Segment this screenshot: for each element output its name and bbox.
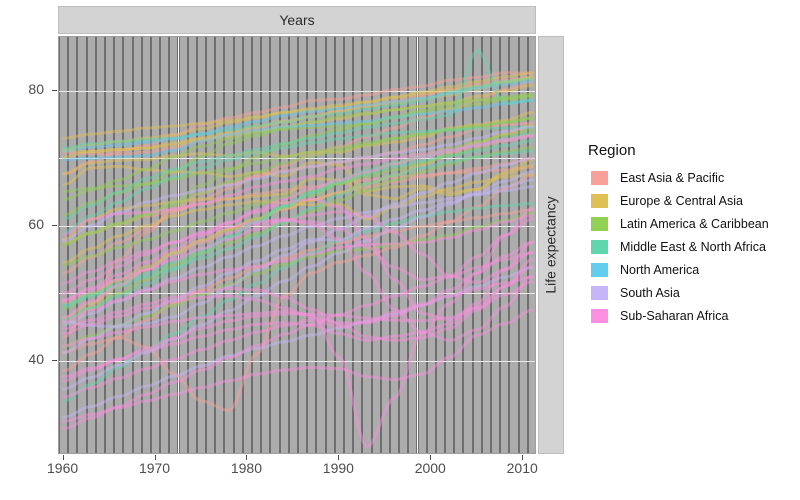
y-tick-mark (52, 90, 57, 91)
legend-item[interactable]: South Asia (588, 281, 793, 304)
legend-item[interactable]: East Asia & Pacific (588, 166, 793, 189)
y-tick-label: 80 (4, 81, 44, 97)
x-tick-mark (430, 455, 431, 460)
legend-item[interactable]: Sub-Saharan Africa (588, 304, 793, 327)
legend-key (588, 282, 611, 303)
life-expectancy-lines (59, 37, 536, 454)
legend-label: South Asia (620, 286, 680, 300)
legend-swatch (591, 217, 608, 231)
x-tick-mark (246, 455, 247, 460)
legend-key (588, 167, 611, 188)
legend-label: North America (620, 263, 699, 277)
legend-label: Europe & Central Asia (620, 194, 743, 208)
legend-swatch (591, 194, 608, 208)
panel-inner (59, 37, 535, 453)
legend-item[interactable]: North America (588, 258, 793, 281)
facet-strip-right-label: Life expectancy (543, 196, 559, 293)
facet-strip-right: Life expectancy (538, 36, 564, 454)
x-tick-label: 2000 (400, 460, 460, 476)
legend-swatch (591, 309, 608, 323)
legend-label: Sub-Saharan Africa (620, 309, 728, 323)
chart-root: Years Life expectancy 406080 19601970198… (0, 0, 800, 500)
x-tick-mark (155, 455, 156, 460)
facet-strip-top: Years (58, 6, 536, 34)
legend-key (588, 236, 611, 257)
facet-strip-top-label: Years (279, 12, 314, 28)
legend-item[interactable]: Middle East & North Africa (588, 235, 793, 258)
x-tick-label: 1960 (33, 460, 93, 476)
y-tick-label: 40 (4, 351, 44, 367)
y-tick-mark (52, 360, 57, 361)
legend-item[interactable]: Latin America & Caribbean (588, 212, 793, 235)
legend-label: Latin America & Caribbean (620, 217, 769, 231)
x-tick-label: 1980 (216, 460, 276, 476)
x-tick-mark (522, 455, 523, 460)
y-tick-label: 60 (4, 216, 44, 232)
legend-items: East Asia & PacificEurope & Central Asia… (588, 166, 793, 327)
plot-panel (58, 36, 536, 454)
x-tick-label: 1970 (125, 460, 185, 476)
legend-swatch (591, 286, 608, 300)
x-tick-mark (63, 455, 64, 460)
legend-title: Region (588, 142, 793, 159)
x-tick-label: 2010 (492, 460, 552, 476)
legend-key (588, 259, 611, 280)
x-tick-mark (338, 455, 339, 460)
legend-swatch (591, 240, 608, 254)
series-line (64, 118, 533, 245)
legend: Region East Asia & PacificEurope & Centr… (588, 142, 793, 327)
y-tick-mark (52, 225, 57, 226)
legend-swatch (591, 263, 608, 277)
legend-swatch (591, 171, 608, 185)
x-tick-label: 1990 (308, 460, 368, 476)
legend-label: East Asia & Pacific (620, 171, 724, 185)
legend-key (588, 305, 611, 326)
legend-label: Middle East & North Africa (620, 240, 766, 254)
legend-key (588, 190, 611, 211)
series-line (64, 282, 533, 381)
legend-item[interactable]: Europe & Central Asia (588, 189, 793, 212)
legend-key (588, 213, 611, 234)
